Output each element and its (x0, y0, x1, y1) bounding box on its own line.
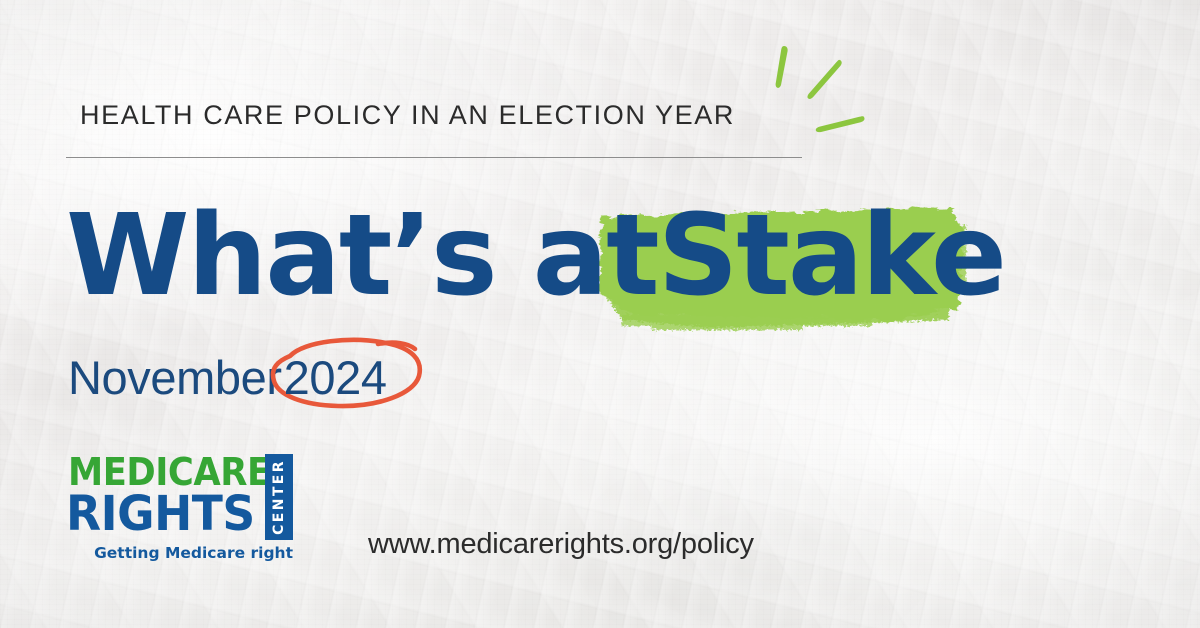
headline: What’s at Stake (66, 196, 1005, 316)
logo-word-rights: RIGHTS (66, 486, 255, 542)
headline-part-1: What’s at (66, 196, 658, 316)
medicare-rights-center-logo[interactable]: MEDICARE RIGHTS CENTER Getting Medicare … (66, 452, 306, 492)
date-year: 2024 (284, 351, 387, 404)
date-year-group: 2024 (284, 350, 387, 405)
logo-tagline: Getting Medicare right (66, 544, 293, 562)
website-url[interactable]: www.medicarerights.org/policy (368, 528, 754, 561)
dateline: November 2024 (68, 348, 387, 406)
poster-canvas: HEALTH CARE POLICY IN AN ELECTION YEAR (0, 0, 1200, 628)
logo-wordmark: MEDICARE RIGHTS CENTER (66, 452, 306, 492)
logo-word-center: CENTER (271, 459, 287, 535)
header-divider (66, 157, 802, 158)
headline-part-2-highlighted: Stake (658, 196, 1005, 316)
date-month: November (68, 350, 282, 405)
eyebrow-text: HEALTH CARE POLICY IN AN ELECTION YEAR (80, 100, 735, 131)
spark-burst-icon (752, 38, 882, 148)
logo-center-badge: CENTER (265, 454, 293, 540)
poster-content: HEALTH CARE POLICY IN AN ELECTION YEAR (0, 0, 1200, 628)
